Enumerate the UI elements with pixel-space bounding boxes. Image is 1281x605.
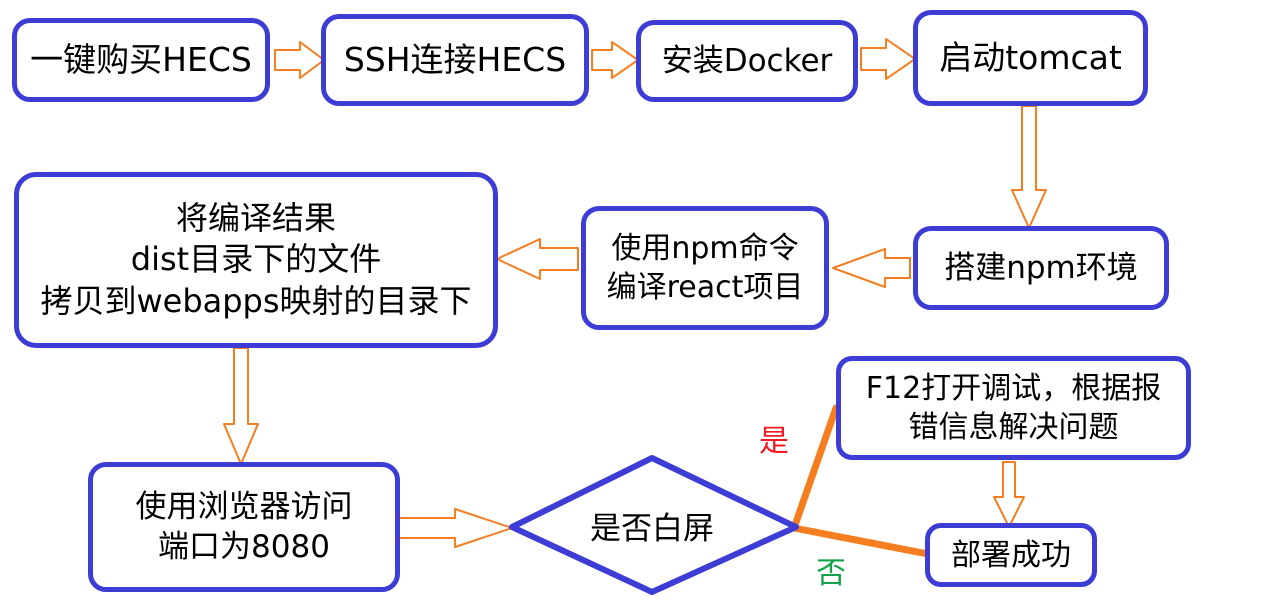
edge-compile-to-copy [497, 239, 578, 279]
node-browser-access-line-0: 使用浏览器访问 [136, 487, 353, 527]
edge-tomcat-to-npmenv [1012, 106, 1046, 228]
node-ssh-connect[interactable]: SSH连接HECS [321, 14, 589, 106]
node-deploy-success-line-0: 部署成功 [951, 536, 1071, 575]
node-start-tomcat-line-0: 启动tomcat [939, 37, 1122, 80]
node-ssh-connect-line-0: SSH连接HECS [344, 39, 566, 82]
node-start-tomcat[interactable]: 启动tomcat [913, 10, 1148, 106]
node-f12-debug-line-1: 错信息解决问题 [909, 408, 1119, 447]
node-install-docker-line-0: 安装Docker [662, 41, 833, 81]
node-compile-react[interactable]: 使用npm命令 编译react项目 [581, 206, 829, 330]
node-buy-hecs-line-0: 一键购买HECS [30, 39, 252, 82]
node-copy-dist-line-2: 拷贝到webapps映射的目录下 [40, 281, 471, 323]
node-f12-debug[interactable]: F12打开调试，根据报 错信息解决问题 [836, 356, 1191, 460]
node-compile-react-line-1: 编译react项目 [607, 268, 804, 307]
node-copy-dist-line-0: 将编译结果 [176, 198, 336, 240]
edge-npmenv-to-compile [833, 249, 910, 287]
edge-decide-to-success [794, 528, 928, 554]
node-decision-white-screen-label: 是否白屏 [590, 503, 714, 548]
node-setup-npm-env-line-0: 搭建npm环境 [944, 248, 1138, 288]
edge-ssh-to-docker [592, 42, 638, 78]
node-buy-hecs[interactable]: 一键购买HECS [12, 18, 270, 102]
edge-copy-to-browser [224, 348, 258, 464]
node-setup-npm-env[interactable]: 搭建npm环境 [913, 226, 1169, 310]
node-browser-access[interactable]: 使用浏览器访问 端口为8080 [88, 462, 400, 592]
edge-browser-to-decide [398, 509, 512, 547]
node-f12-debug-line-0: F12打开调试，根据报 [866, 369, 1161, 408]
node-install-docker[interactable]: 安装Docker [636, 20, 858, 102]
decision-diamond-shape [512, 458, 796, 592]
node-deploy-success[interactable]: 部署成功 [925, 523, 1097, 587]
edge-label-yes: 是 [759, 416, 789, 460]
edge-f12-to-success [994, 462, 1024, 527]
node-copy-dist[interactable]: 将编译结果 dist目录下的文件 拷贝到webapps映射的目录下 [14, 172, 498, 348]
node-compile-react-line-0: 使用npm命令 [611, 229, 798, 268]
edge-decide-to-f12 [794, 408, 836, 528]
node-decision-white-screen[interactable]: 是否白屏 [508, 455, 796, 595]
edge-buy-to-ssh [275, 42, 324, 78]
node-copy-dist-line-1: dist目录下的文件 [131, 239, 381, 281]
node-browser-access-line-1: 端口为8080 [158, 527, 330, 567]
edge-label-no: 否 [816, 548, 846, 592]
edge-docker-to-tomcat [861, 39, 915, 79]
flowchart-canvas: 一键购买HECS SSH连接HECS 安装Docker 启动tomcat 搭建n… [0, 0, 1281, 605]
